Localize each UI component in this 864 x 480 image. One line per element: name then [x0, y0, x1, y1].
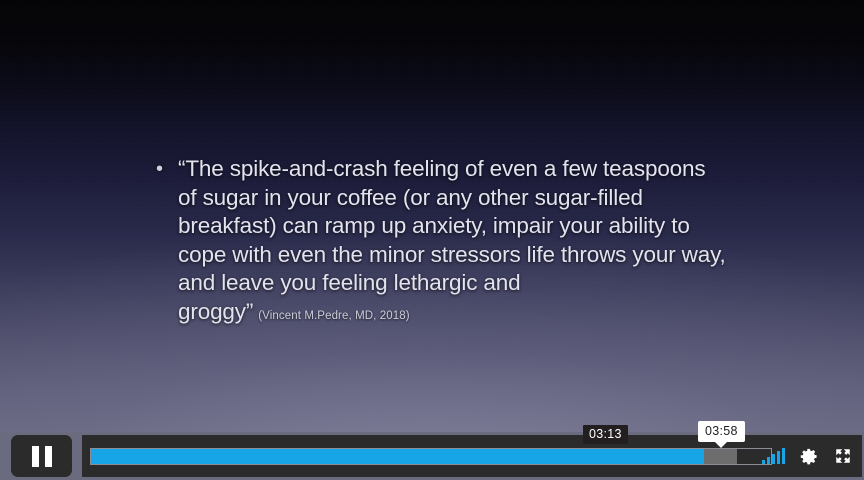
gear-icon[interactable]: [800, 447, 819, 466]
pause-icon-bar-right: [45, 446, 52, 467]
volume-bar-4: [777, 451, 780, 464]
progress-panel: 03:13 03:58: [82, 435, 862, 477]
slide-canvas[interactable]: • “The spike-and-crash feeling of even a…: [0, 0, 864, 432]
fullscreen-icon[interactable]: [834, 447, 852, 465]
video-player-viewport: • “The spike-and-crash feeling of even a…: [0, 0, 864, 480]
quote-text-content: “The spike-and-crash feeling of even a f…: [178, 156, 726, 324]
hover-time-tooltip: 03:58: [698, 421, 745, 442]
player-control-bar: 03:13 03:58: [0, 432, 864, 480]
elapsed-time-tooltip: 03:13: [583, 425, 628, 444]
seek-bar[interactable]: 03:13 03:58: [90, 448, 772, 465]
quote-bullet-item: • “The spike-and-crash feeling of even a…: [152, 155, 732, 331]
volume-bar-5: [782, 448, 785, 464]
quote-text-body: “The spike-and-crash feeling of even a f…: [178, 155, 730, 331]
seek-bar-played: [91, 449, 704, 464]
pause-icon: [32, 446, 52, 467]
pause-icon-bar-left: [32, 446, 39, 467]
volume-bars-icon[interactable]: [762, 449, 785, 464]
volume-bar-3: [772, 454, 775, 464]
player-right-controls: [762, 435, 852, 477]
quote-citation: (Vincent M.Pedre, MD, 2018): [258, 310, 409, 322]
volume-bar-1: [762, 460, 765, 464]
bullet-point-marker: •: [152, 155, 178, 184]
play-pause-button[interactable]: [11, 435, 72, 477]
volume-bar-2: [767, 457, 770, 464]
